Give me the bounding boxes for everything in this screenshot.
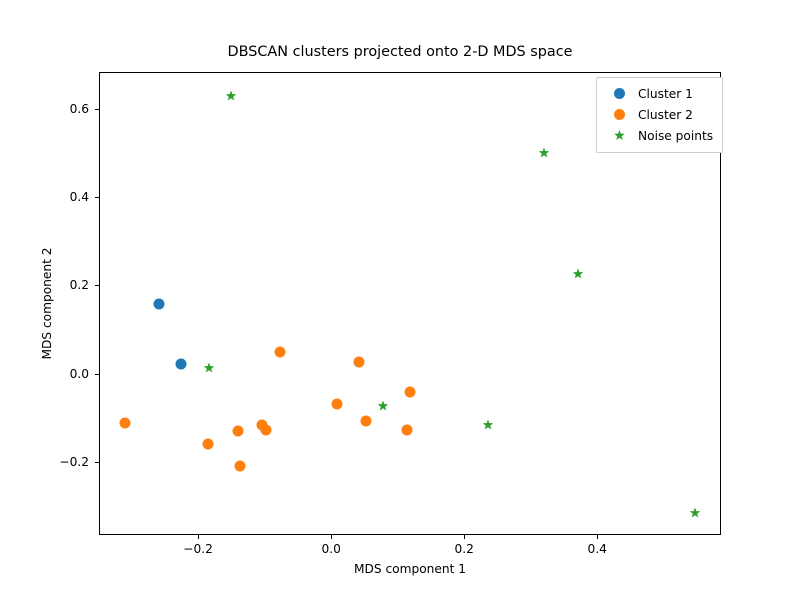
data-point-noise-points [377,400,388,411]
legend-label: Cluster 2 [632,108,693,122]
x-tick-mark [198,535,199,539]
data-point-noise-points [226,91,237,102]
x-tick-mark [597,535,598,539]
data-point-cluster-1 [153,299,164,310]
x-tick-label: 0.0 [321,542,340,556]
data-point-cluster-2 [261,424,272,435]
legend-label: Noise points [632,129,713,143]
data-point-cluster-2 [234,461,245,472]
legend-item-cluster-2[interactable]: Cluster 2 [606,104,713,125]
legend: Cluster 1Cluster 2Noise points [596,77,723,153]
circle-marker-icon [606,109,632,120]
data-point-cluster-2 [332,399,343,410]
data-point-cluster-2 [203,438,214,449]
x-tick-mark [331,535,332,539]
data-point-cluster-2 [119,418,130,429]
x-tick-label: −0.2 [183,542,213,556]
data-point-noise-points [538,147,549,158]
data-point-cluster-2 [275,346,286,357]
y-tick-label: −0.2 [59,455,89,469]
data-point-noise-points [482,420,493,431]
data-point-noise-points [204,363,215,374]
y-tick-label: 0.2 [70,278,89,292]
legend-label: Cluster 1 [632,87,693,101]
data-point-cluster-2 [405,386,416,397]
y-tick-label: 0.4 [70,190,89,204]
x-axis-label: MDS component 1 [99,562,721,576]
data-point-noise-points [573,269,584,280]
x-tick-mark [464,535,465,539]
data-point-cluster-2 [233,426,244,437]
data-point-cluster-1 [176,358,187,369]
x-tick-label: 0.4 [588,542,607,556]
y-tick-mark [95,109,99,110]
x-tick-label: 0.2 [455,542,474,556]
data-point-cluster-2 [361,416,372,427]
legend-item-cluster-1[interactable]: Cluster 1 [606,83,713,104]
figure-canvas: DBSCAN clusters projected onto 2-D MDS s… [0,0,800,600]
data-point-noise-points [689,507,700,518]
y-axis-label: MDS component 2 [40,72,54,535]
y-tick-mark [95,197,99,198]
data-point-cluster-2 [353,357,364,368]
page-title: DBSCAN clusters projected onto 2-D MDS s… [0,44,800,60]
y-tick-mark [95,285,99,286]
circle-marker-icon [606,88,632,99]
y-tick-label: 0.0 [70,367,89,381]
data-point-cluster-2 [401,424,412,435]
y-tick-mark [95,374,99,375]
y-tick-label: 0.6 [70,102,89,116]
y-tick-mark [95,462,99,463]
star-marker-icon [606,130,632,141]
legend-item-noise-points[interactable]: Noise points [606,125,713,146]
